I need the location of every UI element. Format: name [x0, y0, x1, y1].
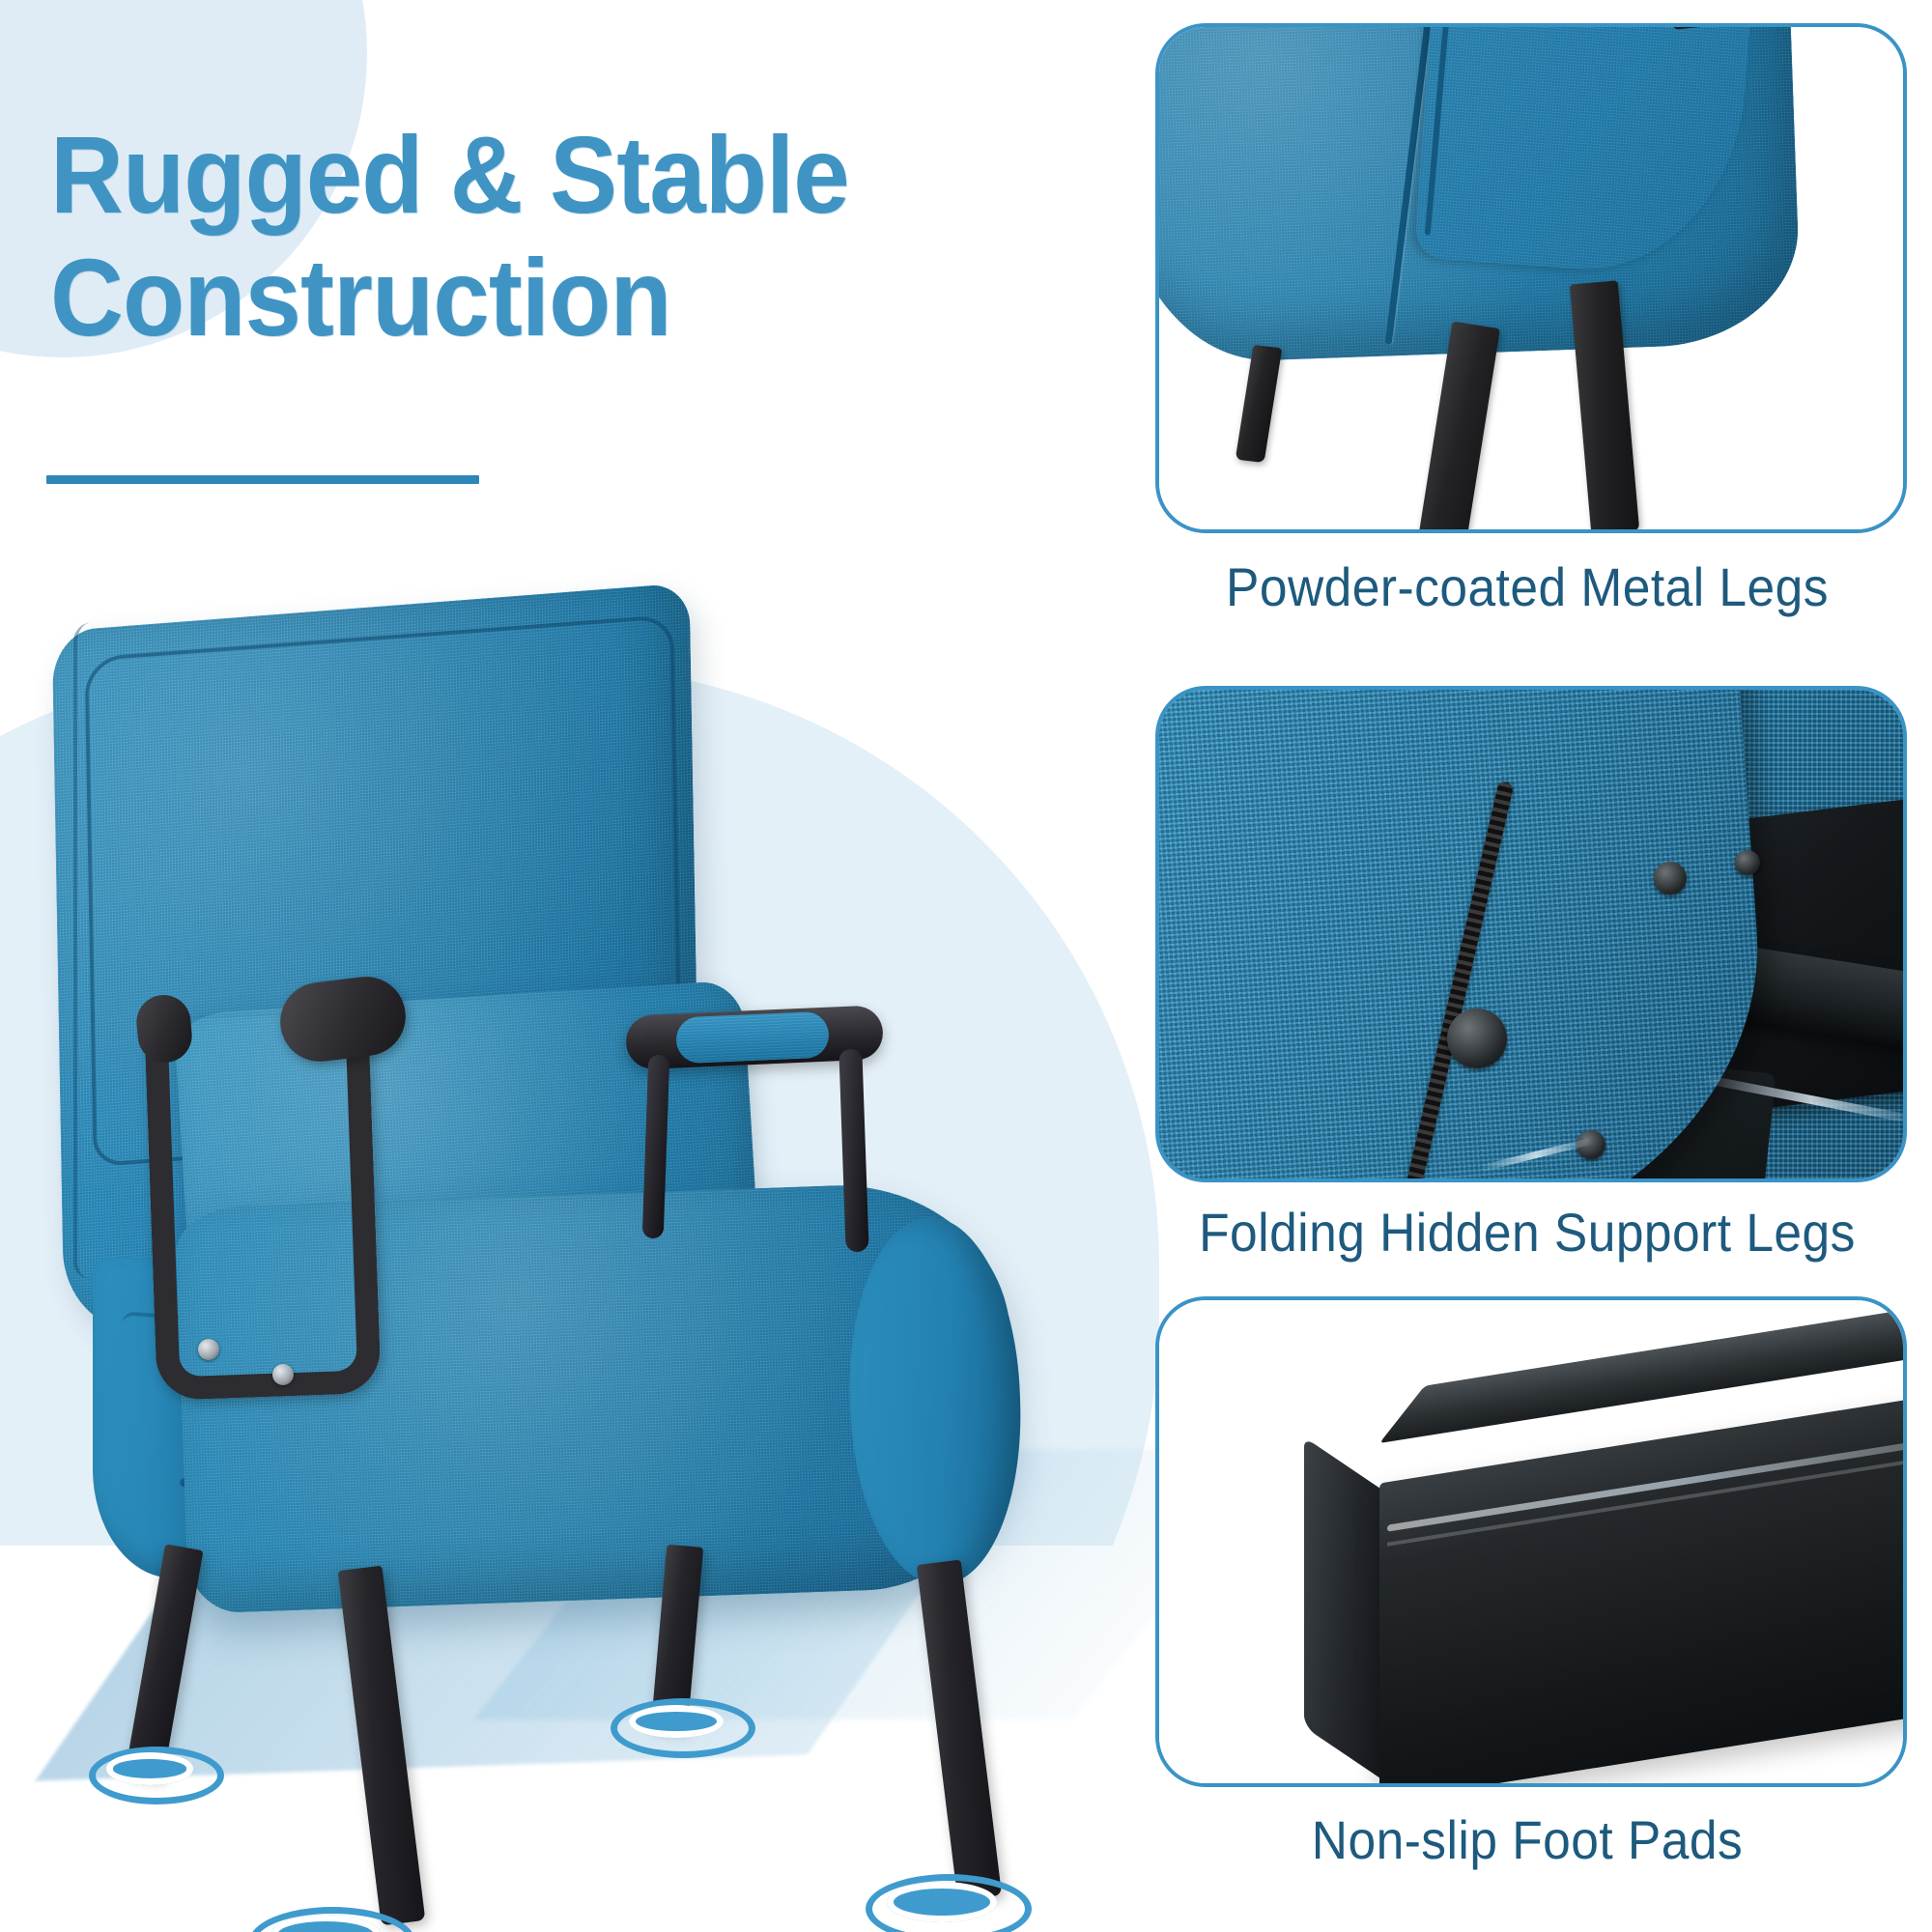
page-title: Rugged & Stable Construction — [50, 114, 1020, 358]
foot-pad-end-cap — [1304, 1437, 1385, 1782]
title-line-1: Rugged & Stable — [50, 114, 849, 236]
ripple-inner-dot — [106, 1752, 194, 1784]
title-underline-rule — [46, 475, 479, 484]
detail-metal-leg-back — [1236, 345, 1283, 463]
hinge-bolt — [1654, 862, 1687, 895]
non-slip-ripple-indicator — [866, 1874, 1018, 1930]
feature-panel-foot-pads — [1155, 1296, 1907, 1787]
marketing-infographic: Rugged & Stable Construction — [0, 0, 1932, 1932]
far-armrest-fabric-grip — [675, 1011, 830, 1065]
foot-pad-front-face — [1379, 1391, 1907, 1787]
hero-product-image — [0, 580, 1092, 1932]
armrest-screw-right — [272, 1364, 294, 1385]
backrest-side-piping — [73, 621, 110, 1280]
caption-non-slip-foot-pads: Non-slip Foot Pads — [1185, 1808, 1869, 1871]
hinge-pivot-bolt — [1447, 1009, 1507, 1068]
foot-pad-photo — [1159, 1300, 1903, 1783]
near-armrest-bracket — [144, 1012, 382, 1401]
title-line-2: Construction — [50, 237, 1020, 359]
caption-powder-coated-metal-legs: Powder-coated Metal Legs — [1185, 555, 1869, 618]
feature-panel-support-legs — [1155, 686, 1907, 1182]
caption-folding-hidden-support-legs: Folding Hidden Support Legs — [1185, 1201, 1869, 1264]
support-legs-photo — [1159, 690, 1903, 1179]
non-slip-ripple-indicator — [249, 1907, 402, 1932]
hinge-bolt — [1735, 850, 1760, 875]
ripple-inner-dot — [629, 1705, 724, 1739]
non-slip-ripple-indicator — [611, 1698, 742, 1745]
armrest-screw-left — [198, 1339, 219, 1360]
non-slip-ripple-indicator — [89, 1747, 211, 1791]
ripple-inner-dot — [887, 1882, 997, 1922]
feature-panel-metal-legs — [1155, 23, 1907, 533]
metal-legs-photo — [1159, 27, 1903, 529]
